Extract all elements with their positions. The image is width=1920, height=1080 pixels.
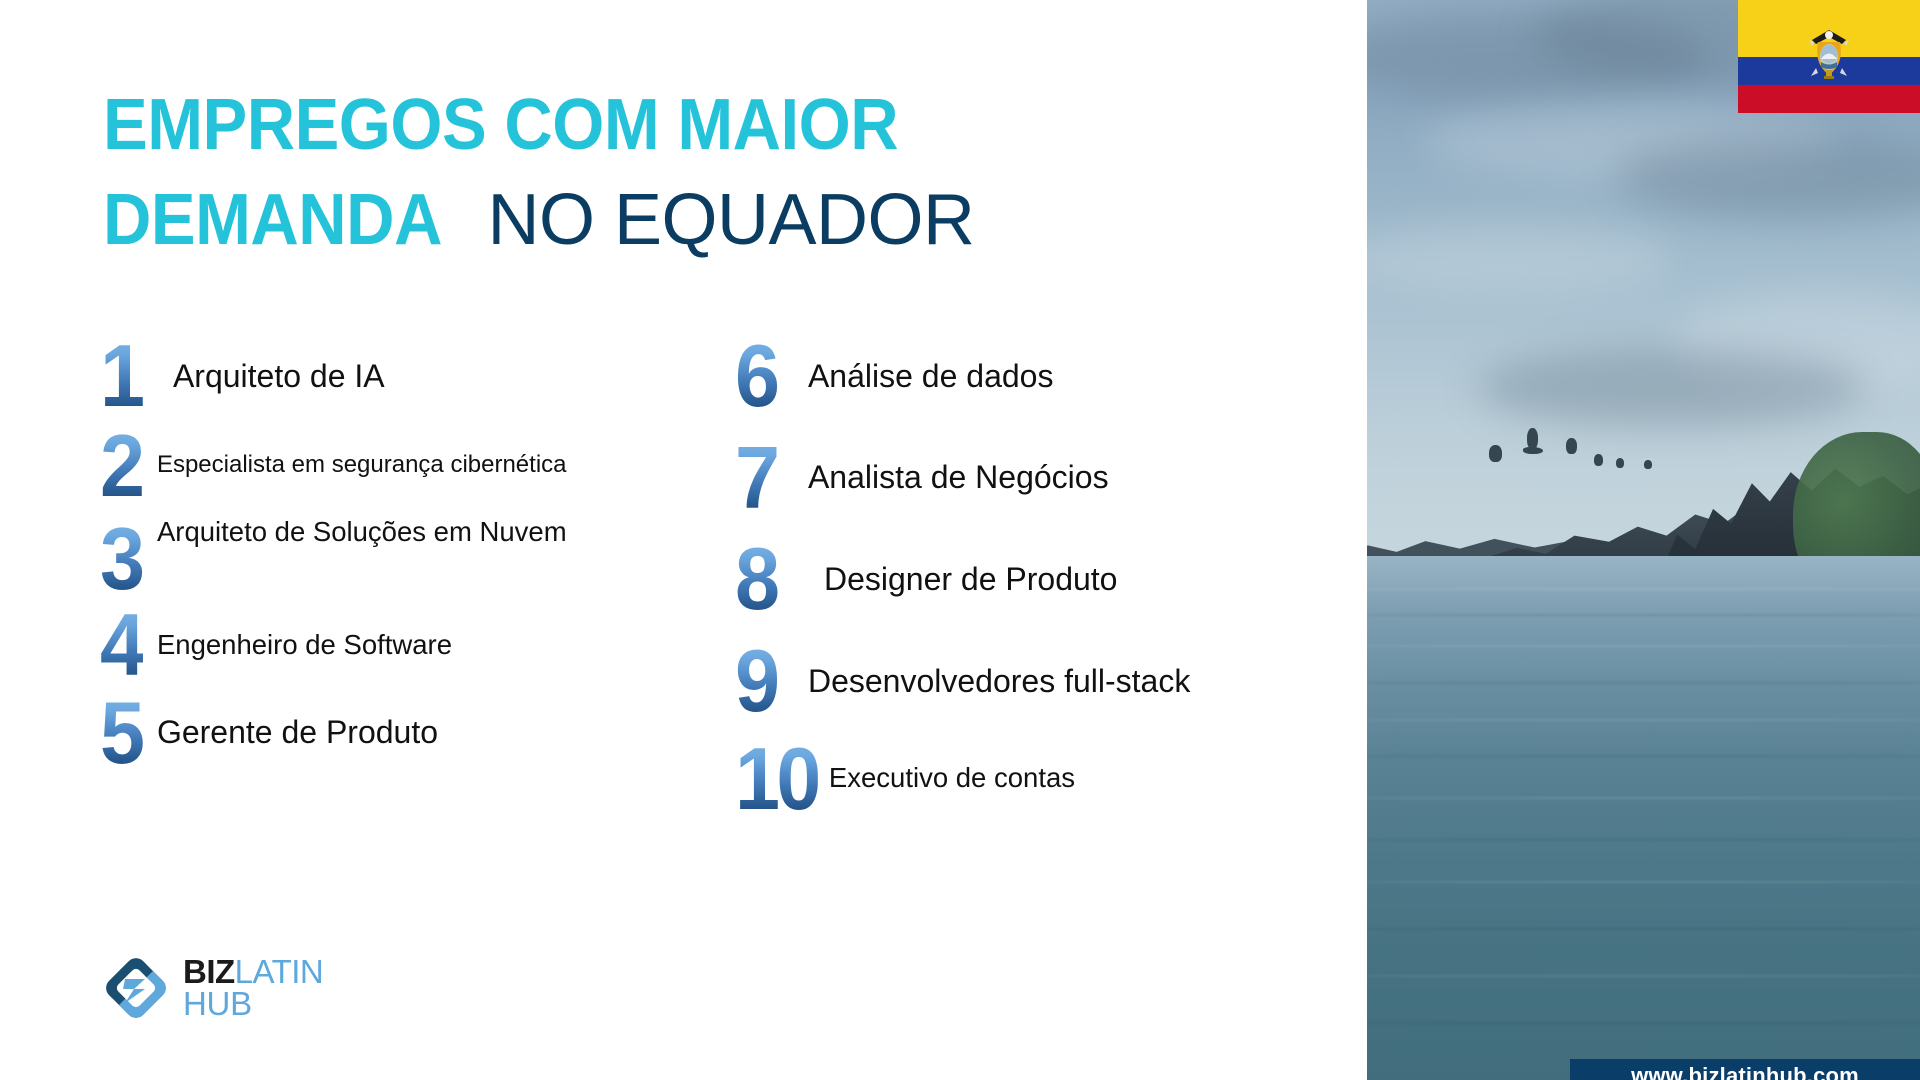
list-item: 2 Especialista em segurança cibernética — [100, 428, 700, 504]
ocean-water — [1367, 556, 1920, 1080]
list-item: 4 Engenheiro de Software — [100, 607, 700, 683]
rank-number: 6 — [735, 338, 778, 414]
list-item: 7 Analista de Negócios — [735, 440, 1355, 516]
job-list-left-column: 1 Arquiteto de IA 2 Especialista em segu… — [100, 338, 700, 786]
seabird — [1489, 445, 1502, 462]
ecuador-flag-icon — [1738, 0, 1920, 113]
content-panel: EMPREGOS COM MAIOR DEMANDANO EQUADOR 1 A… — [0, 0, 1367, 1080]
rank-number: 8 — [735, 541, 778, 617]
job-title: Especialista em segurança cibernética — [147, 450, 567, 480]
logo-row-top: BIZLATIN — [183, 956, 323, 988]
rank-number: 5 — [100, 695, 143, 771]
job-title: Arquiteto de Soluções em Nuvem — [147, 515, 567, 550]
title-dark-line2: NO EQUADOR — [487, 173, 974, 268]
title-line-1: EMPREGOS COM MAIOR — [103, 78, 1223, 173]
rank-number: 4 — [100, 607, 143, 683]
cloud — [1478, 348, 1865, 427]
job-title: Gerente de Produto — [147, 712, 438, 752]
list-item: 6 Análise de dados — [735, 338, 1355, 414]
logo-hub-text: HUB — [183, 988, 323, 1020]
cloud — [1367, 225, 1671, 292]
list-item: 5 Gerente de Produto — [100, 695, 700, 771]
title-accent-line1: EMPREGOS COM MAIOR — [103, 78, 898, 173]
list-item: 9 Desenvolvedores full-stack — [735, 643, 1355, 719]
job-title: Análise de dados — [782, 356, 1054, 396]
rank-number: 3 — [100, 521, 143, 597]
job-title: Engenheiro de Software — [147, 628, 452, 663]
rank-number: 2 — [100, 428, 143, 504]
list-item: 3 Arquiteto de Soluções em Nuvem — [100, 515, 700, 597]
logo-wordmark: BIZLATIN HUB — [183, 956, 323, 1021]
rank-number: 1 — [100, 338, 143, 414]
list-item: 10 Executivo de contas — [735, 741, 1355, 817]
title-accent-line2: DEMANDA — [103, 173, 442, 268]
website-watermark-bar: www.bizlatinhub.com — [1570, 1059, 1920, 1080]
seabird — [1594, 454, 1603, 466]
seabird — [1527, 428, 1538, 449]
job-list-right-column: 6 Análise de dados 7 Analista de Negócio… — [735, 338, 1355, 832]
job-title: Executivo de contas — [825, 761, 1075, 796]
seabird — [1566, 438, 1577, 454]
rank-number: 7 — [735, 440, 778, 516]
job-title: Designer de Produto — [782, 559, 1118, 599]
list-item: 8 Designer de Produto — [735, 541, 1355, 617]
job-title: Arquiteto de IA — [147, 356, 385, 396]
page-title: EMPREGOS COM MAIOR DEMANDANO EQUADOR — [103, 78, 1223, 268]
seabird — [1616, 458, 1624, 468]
bizlatinhub-logo[interactable]: BIZLATIN HUB — [103, 955, 323, 1021]
seabird — [1644, 460, 1652, 469]
galapagos-coast-photo — [1367, 0, 1920, 1080]
job-title: Analista de Negócios — [782, 457, 1109, 497]
seabird-body — [1523, 447, 1543, 454]
rank-number: 10 — [735, 741, 818, 817]
job-title: Desenvolvedores full-stack — [782, 661, 1190, 701]
list-item: 1 Arquiteto de IA — [100, 338, 700, 414]
website-url: www.bizlatinhub.com — [1631, 1063, 1859, 1080]
logo-mark-icon — [103, 955, 169, 1021]
rank-number: 9 — [735, 643, 778, 719]
ecuador-coat-of-arms-icon — [1806, 24, 1852, 90]
title-line-2: DEMANDANO EQUADOR — [103, 173, 1223, 268]
